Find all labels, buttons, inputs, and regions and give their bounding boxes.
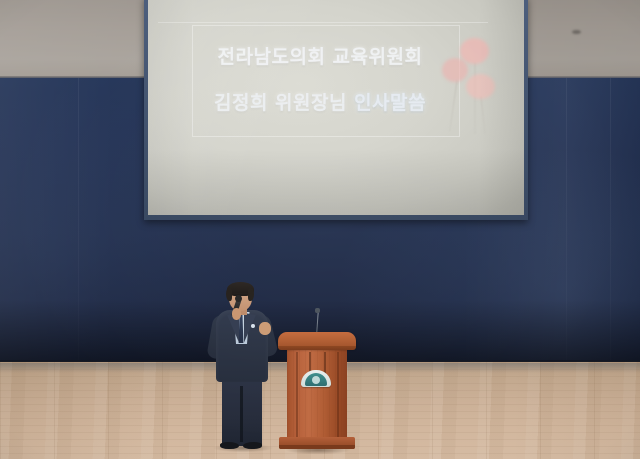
podium (277, 322, 357, 455)
speaker-hand-holding-mic (232, 308, 241, 320)
podium-panel-seam-left (296, 352, 298, 438)
microphone-capsule (235, 295, 242, 302)
projection-screen: 전라남도의회 교육위원회 김정희 위원장님 인사말씀 (148, 0, 524, 215)
screen-vignette (148, 0, 524, 215)
podium-base-shadow (279, 445, 355, 449)
speaker-shoe-left (220, 442, 239, 449)
speaker-figure (196, 282, 288, 455)
speaker-hand-gesturing (259, 322, 271, 335)
speaker-shoe-right (243, 442, 262, 449)
podium-center-groove (324, 352, 326, 374)
gooseneck-microphone-head (315, 308, 320, 313)
podium-top-edge (278, 346, 356, 350)
speaker-leg-separation (240, 386, 243, 442)
speaker-lapel-pin (251, 324, 255, 328)
photo-scene: 전라남도의회 교육위원회 김정희 위원장님 인사말씀 (0, 0, 640, 459)
gooseneck-microphone-icon (316, 310, 319, 334)
wall-blemish (572, 30, 581, 34)
podium-emblem-center (312, 376, 320, 384)
podium-panel-seam-right (337, 352, 339, 438)
